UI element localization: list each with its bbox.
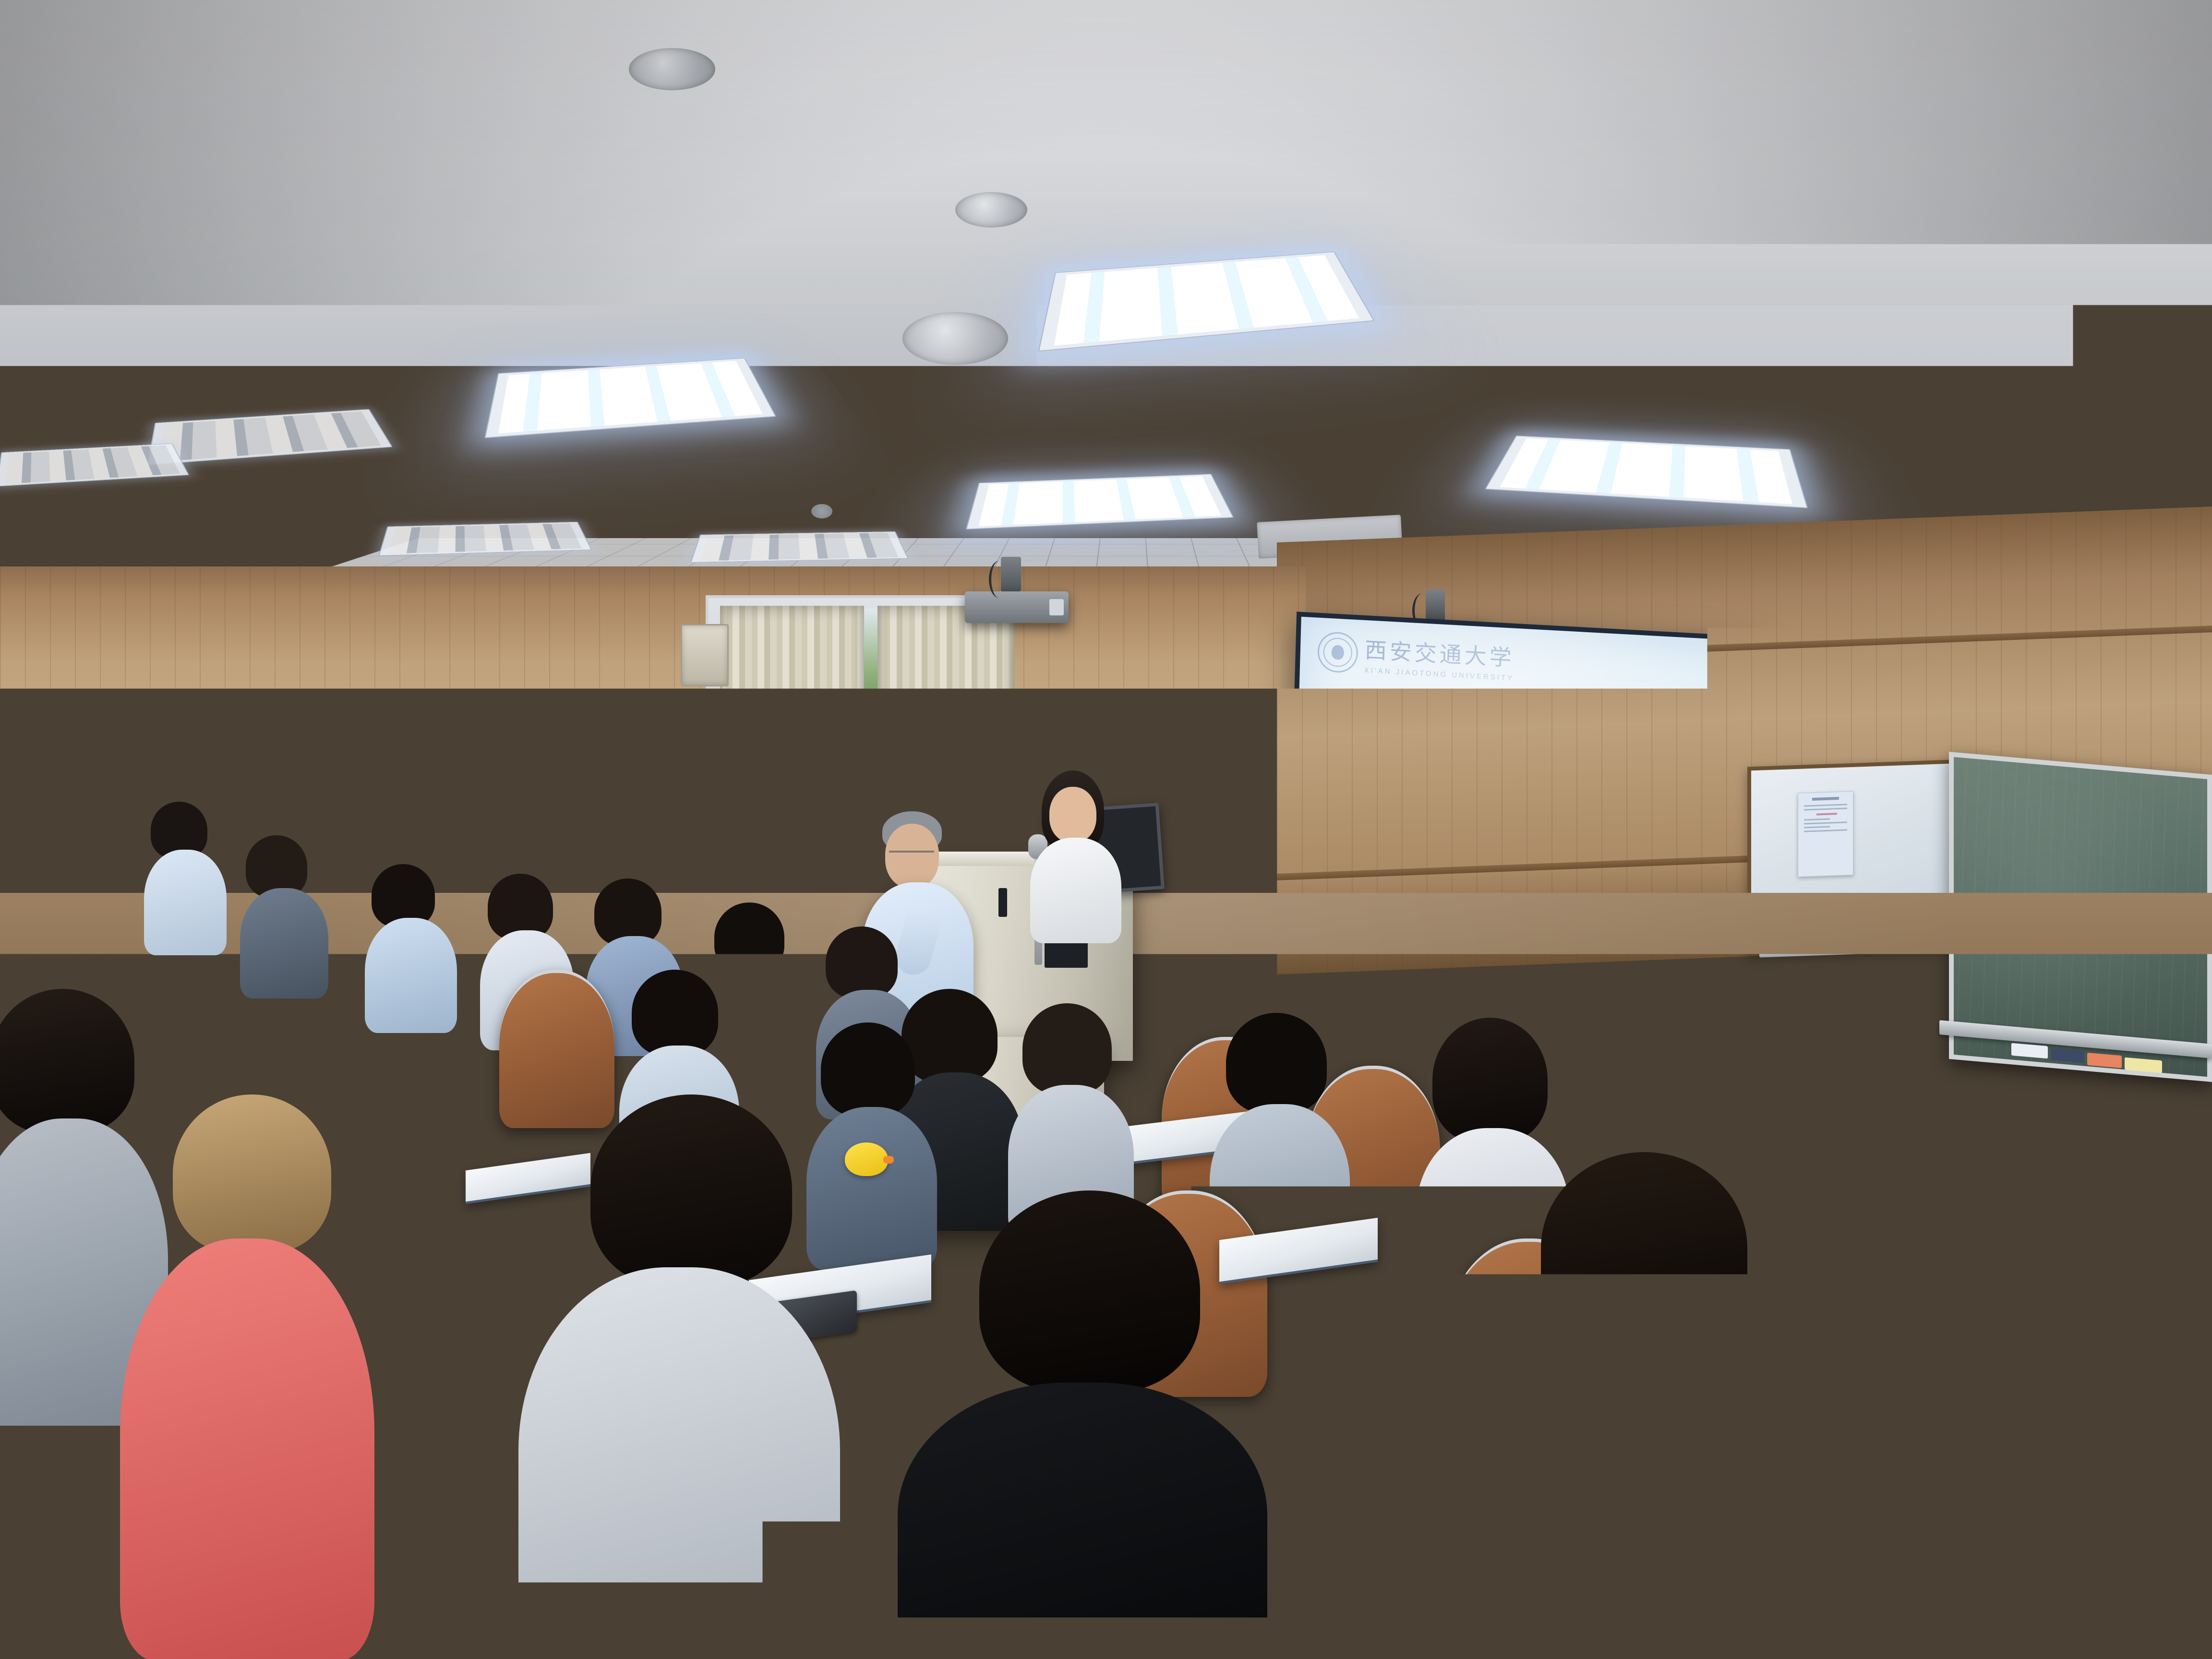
presenter-glasses-icon bbox=[889, 851, 934, 857]
rubber-duck-toy bbox=[845, 1142, 888, 1176]
poster-text-line bbox=[1804, 829, 1847, 832]
poster-text-line bbox=[1804, 826, 1830, 829]
assistant-head bbox=[1049, 787, 1096, 842]
poster-title-bar bbox=[1812, 797, 1839, 801]
audience-top bbox=[518, 1267, 840, 1659]
window-curtain-left bbox=[720, 606, 864, 846]
assistant-at-podium bbox=[1027, 770, 1138, 938]
audience-top bbox=[1469, 1330, 1800, 1659]
teal-chair bbox=[1872, 1032, 1944, 1186]
audience-top bbox=[898, 1382, 1267, 1659]
ceiling-speaker-dome bbox=[955, 192, 1027, 228]
audience-hair bbox=[594, 878, 661, 946]
audience-top bbox=[240, 888, 328, 998]
audience-member bbox=[144, 802, 230, 946]
audience-hair bbox=[1022, 1003, 1112, 1094]
audience-hair bbox=[173, 1094, 331, 1253]
audience-hair bbox=[1432, 1018, 1548, 1142]
audience-member-foreground bbox=[1469, 1152, 1805, 1659]
audience-hair bbox=[590, 1094, 792, 1286]
lecture-hall-photo: 西安交通大学 XI'AN JIAOTONG UNIVERSITY 中國文化創意產… bbox=[0, 0, 2212, 1659]
audience-hair bbox=[826, 926, 898, 998]
backpack bbox=[1863, 1190, 1973, 1282]
window-glass bbox=[862, 609, 878, 825]
ceiling-light-panel bbox=[378, 522, 592, 556]
curtain-pull-cord bbox=[722, 686, 726, 840]
wall-mounted-speaker bbox=[681, 624, 729, 686]
audience-hair bbox=[1226, 1013, 1327, 1114]
poster-text-line bbox=[1804, 804, 1847, 806]
audience-member bbox=[240, 835, 331, 979]
sprinkler-head bbox=[811, 504, 832, 518]
assistant-top bbox=[1030, 838, 1121, 943]
university-seal-icon bbox=[1317, 631, 1358, 673]
audience-member bbox=[1008, 1003, 1138, 1205]
ceiling-speaker-dome bbox=[629, 48, 715, 90]
projector-lens bbox=[1049, 599, 1064, 615]
projector-cable bbox=[989, 561, 1010, 598]
ceiling-speaker-dome bbox=[902, 312, 1008, 365]
audience-member-foreground bbox=[518, 1094, 845, 1659]
audience-hair bbox=[2128, 1166, 2204, 1248]
audience-top bbox=[144, 850, 227, 955]
audience-member-foreground bbox=[898, 1190, 1272, 1659]
audience-member-foreground bbox=[120, 1094, 379, 1659]
university-name-chinese: 西安交通大学 bbox=[1364, 633, 1515, 673]
audience-hair bbox=[0, 989, 134, 1133]
audience-member bbox=[365, 864, 461, 1018]
aisle-step-riser bbox=[1229, 1363, 1411, 1450]
audience-hair bbox=[1541, 1152, 1747, 1344]
audience-top-red bbox=[120, 1238, 374, 1659]
whiteboard-left bbox=[1161, 715, 1300, 893]
poster-text-line bbox=[1804, 818, 1830, 821]
audience-top bbox=[365, 918, 457, 1033]
podium-side-recess bbox=[998, 888, 1007, 917]
poster-text-line bbox=[1804, 807, 1847, 810]
poster-text-line bbox=[1804, 821, 1847, 824]
audience-hair bbox=[714, 902, 784, 973]
ceiling-light-panel bbox=[690, 531, 909, 563]
audience-hair bbox=[632, 970, 718, 1056]
whiteboard-poster bbox=[1798, 791, 1853, 877]
audience-hair bbox=[979, 1190, 1200, 1392]
poster-accent-line bbox=[1816, 813, 1837, 816]
university-logo-block: 西安交通大学 XI'AN JIAOTONG UNIVERSITY bbox=[1317, 630, 1515, 683]
